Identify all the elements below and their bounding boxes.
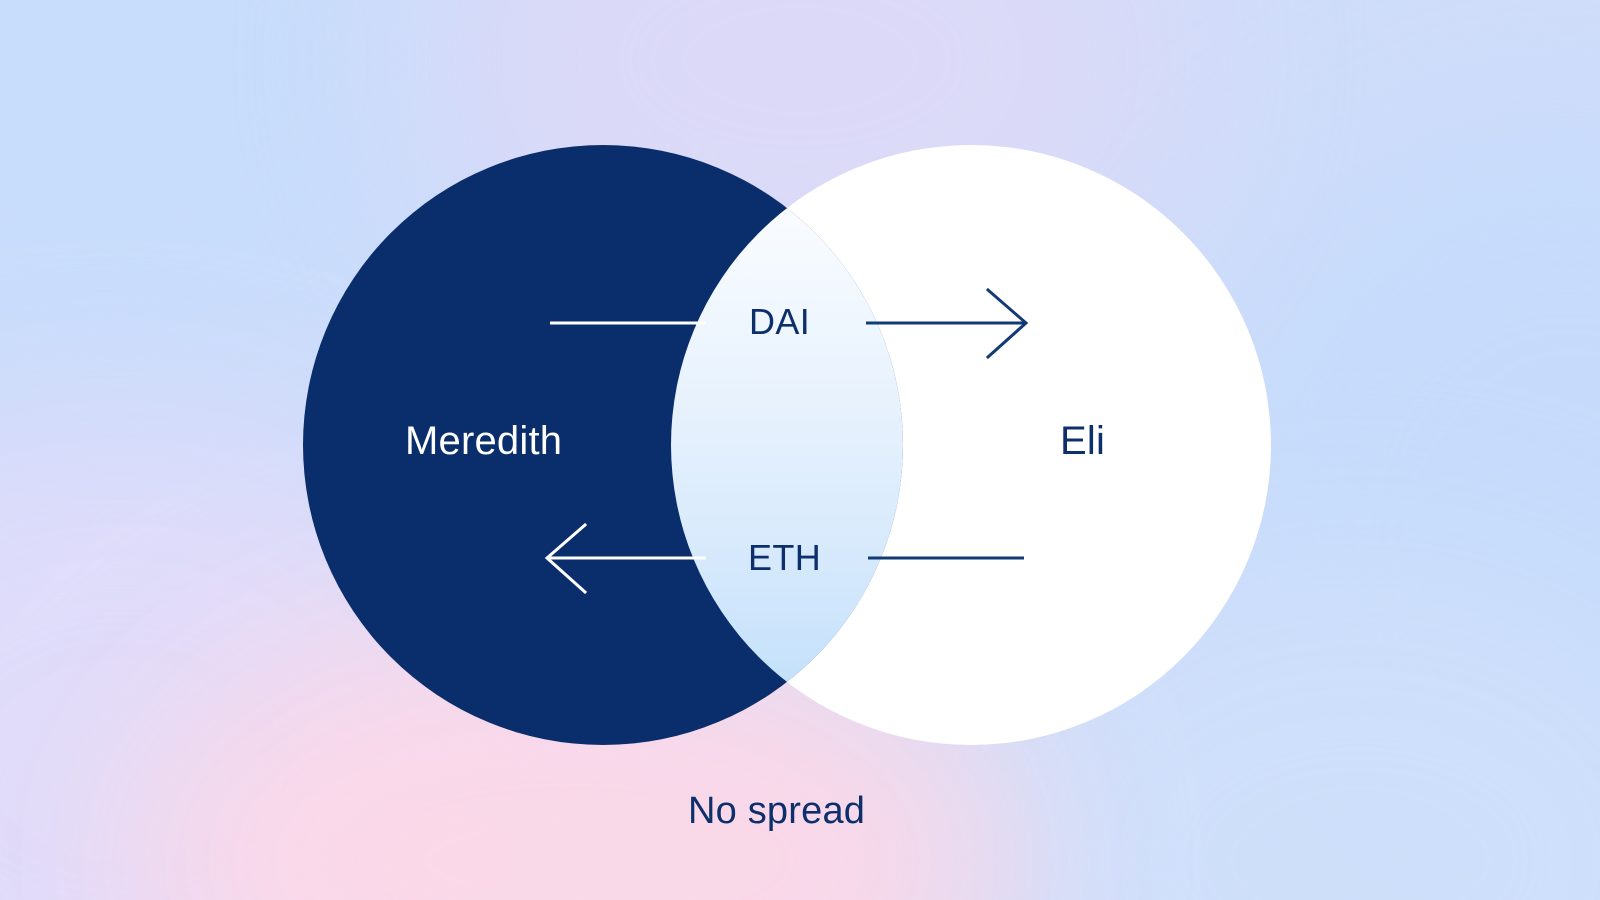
flow-token-label-eth: ETH [748, 540, 821, 576]
diagram-canvas: Meredith Eli DAI ETH No spread [0, 0, 1600, 900]
diagram-caption: No spread [688, 792, 865, 830]
right-circle-label: Eli [1060, 421, 1105, 461]
flow-token-label-dai: DAI [749, 304, 810, 340]
left-circle-label: Meredith [405, 421, 562, 461]
venn-diagram [0, 0, 1600, 900]
